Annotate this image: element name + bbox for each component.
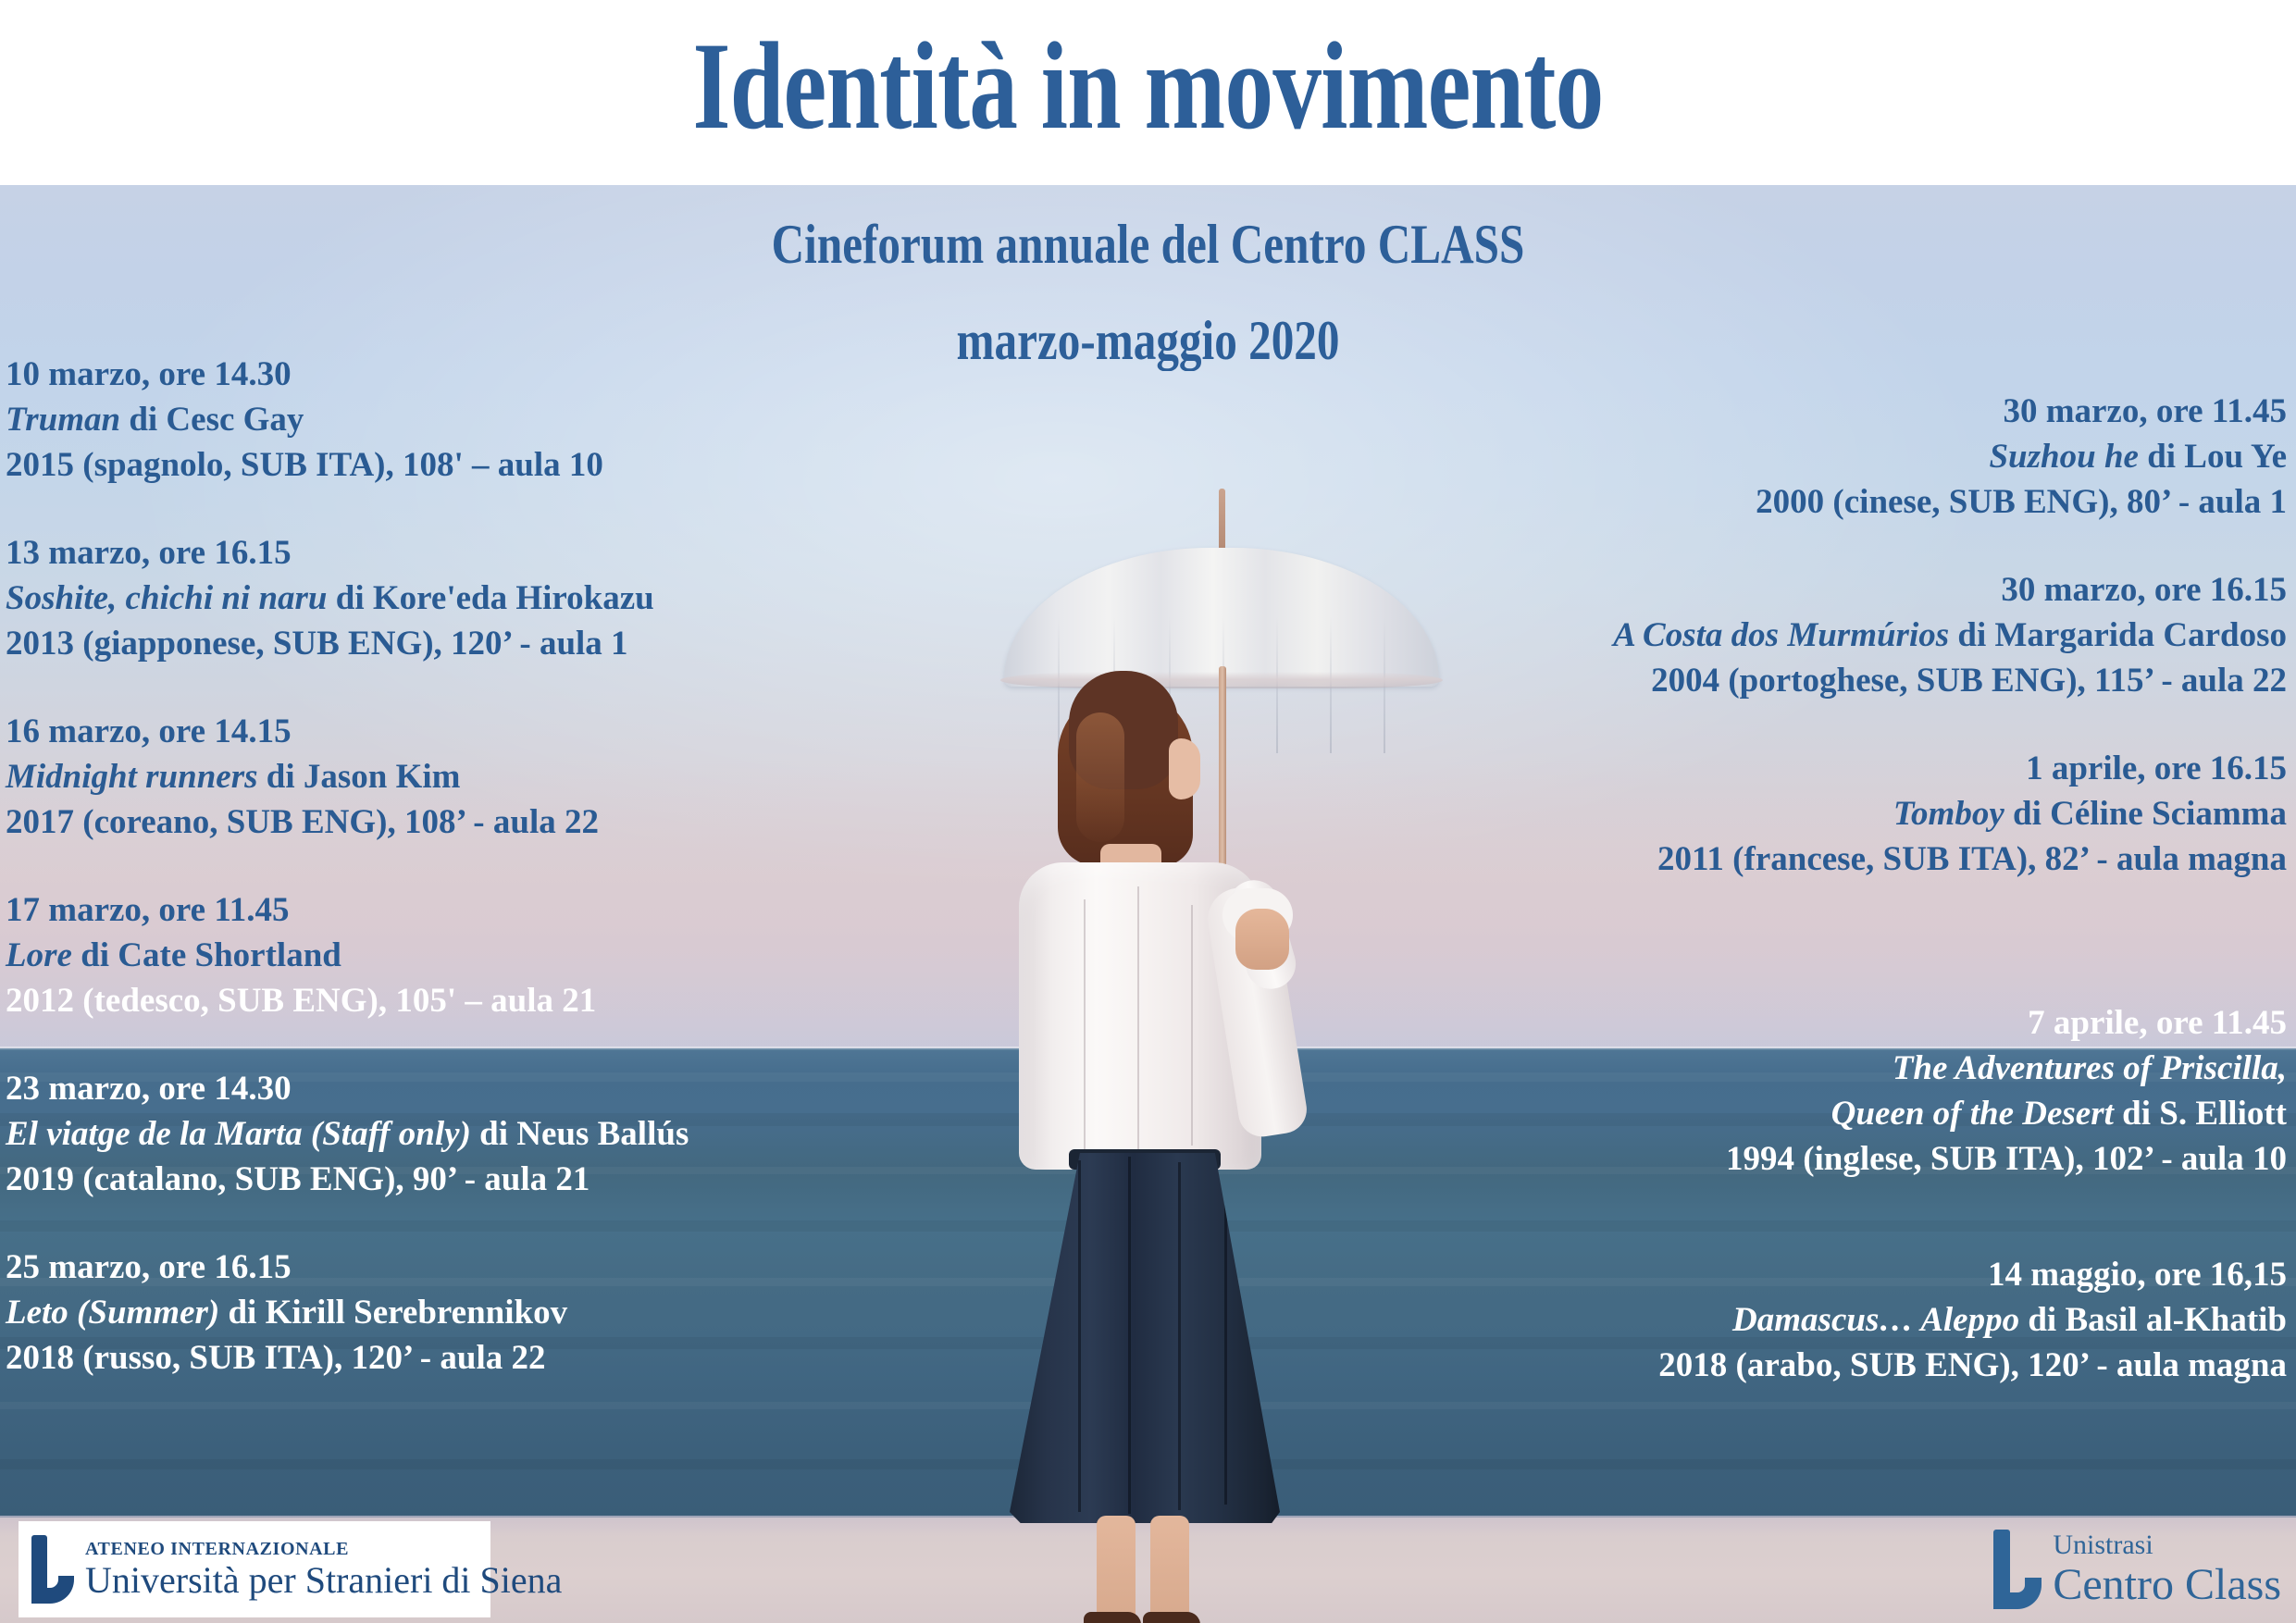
- film-director: di Cesc Gay: [120, 401, 304, 439]
- schedule-left-column: 10 marzo, ore 14.30 Truman di Cesc Gay 2…: [6, 352, 689, 1423]
- film-title: Midnight runners: [6, 758, 258, 796]
- logo-left-name: Università per Stranieri di Siena: [85, 1560, 562, 1601]
- screening-entry: 10 marzo, ore 14.30 Truman di Cesc Gay 2…: [6, 352, 689, 488]
- entry-details: 2018 (russo, SUB ITA), 120’ - aula 22: [6, 1335, 689, 1381]
- entry-film: Damascus… Aleppo di Basil al-Khatib: [1613, 1297, 2287, 1343]
- entry-details: 1994 (inglese, SUB ITA), 102’ - aula 10: [1613, 1136, 2287, 1182]
- film-title: Tomboy: [1893, 795, 2004, 833]
- film-title: Soshite, chichi ni naru: [6, 579, 328, 617]
- screening-entry: 1 aprile, ore 16.15 Tomboy di Céline Sci…: [1613, 746, 2287, 882]
- film-director: di Kirill Serebrennikov: [219, 1294, 567, 1332]
- entry-details: 2011 (francese, SUB ITA), 82’ - aula mag…: [1613, 836, 2287, 882]
- entry-film: Tomboy di Céline Sciamma: [1613, 791, 2287, 836]
- film-director: di Céline Sciamma: [2004, 795, 2287, 833]
- page-title: Identità in movimento: [253, 24, 2043, 149]
- navy-skirt: [1010, 1153, 1280, 1523]
- screening-entry: 13 marzo, ore 16.15 Soshite, chichi ni n…: [6, 530, 689, 666]
- right-leg: [1150, 1516, 1189, 1623]
- left-leg: [1097, 1516, 1136, 1623]
- logo-right-eyebrow: Unistrasi: [2053, 1530, 2281, 1561]
- entry-film-line-1: The Adventures of Priscilla,: [1613, 1046, 2287, 1091]
- film-director: di Neus Ballús: [471, 1115, 689, 1153]
- entry-film: Suzhou he di Lou Ye: [1613, 434, 2287, 479]
- film-director: di Margarida Cardoso: [1949, 616, 2287, 654]
- film-title-continued: Queen of the Desert: [1831, 1095, 2114, 1133]
- screening-entry: 14 maggio, ore 16,15 Damascus… Aleppo di…: [1613, 1252, 2287, 1388]
- entry-details: 2018 (arabo, SUB ENG), 120’ - aula magna: [1613, 1343, 2287, 1388]
- entry-date: 17 marzo, ore 11.45: [6, 887, 689, 933]
- film-director: di Kore'eda Hirokazu: [328, 579, 654, 617]
- film-title: A Costa dos Murmúrios: [1613, 616, 1949, 654]
- entry-details: 2013 (giapponese, SUB ENG), 120’ - aula …: [6, 621, 689, 666]
- subtitle-line-1: Cineforum annuale del Centro CLASS: [772, 214, 1525, 275]
- entry-film: Truman di Cesc Gay: [6, 397, 689, 442]
- umbrella-tip: [1219, 489, 1225, 551]
- film-title: Suzhou he: [1989, 438, 2138, 476]
- entry-details: 2004 (portoghese, SUB ENG), 115’ - aula …: [1613, 658, 2287, 703]
- entry-details: 2012 (tedesco, SUB ENG), 105' – aula 21: [6, 978, 689, 1023]
- unistrasi-hook-icon: [31, 1535, 74, 1604]
- film-title: El viatge de la Marta (Staff only): [6, 1115, 471, 1153]
- left-sandal: [1084, 1612, 1141, 1623]
- film-director: di Lou Ye: [2139, 438, 2287, 476]
- entry-film: Soshite, chichi ni naru di Kore'eda Hiro…: [6, 576, 689, 621]
- entry-film: A Costa dos Murmúrios di Margarida Cardo…: [1613, 613, 2287, 658]
- film-director: di S. Elliott: [2114, 1095, 2287, 1133]
- entry-film: Leto (Summer) di Kirill Serebrennikov: [6, 1290, 689, 1335]
- entry-date: 16 marzo, ore 14.15: [6, 709, 689, 754]
- entry-film: El viatge de la Marta (Staff only) di Ne…: [6, 1111, 689, 1157]
- film-director: di Cate Shortland: [72, 936, 341, 974]
- screening-entry: 30 marzo, ore 11.45 Suzhou he di Lou Ye …: [1613, 389, 2287, 525]
- entry-date: 14 maggio, ore 16,15: [1613, 1252, 2287, 1297]
- entry-film: Midnight runners di Jason Kim: [6, 754, 689, 799]
- right-sandal: [1143, 1612, 1200, 1623]
- film-title: Leto (Summer): [6, 1294, 219, 1332]
- screening-entry: 25 marzo, ore 16.15 Leto (Summer) di Kir…: [6, 1245, 689, 1381]
- schedule-right-column: 30 marzo, ore 11.45 Suzhou he di Lou Ye …: [1613, 389, 2287, 1431]
- logo-universita-per-stranieri-di-siena: ATENEO INTERNAZIONALE Università per Str…: [19, 1521, 490, 1617]
- logo-right-text: Unistrasi Centro Class: [2053, 1530, 2281, 1609]
- film-director: di Jason Kim: [258, 758, 461, 796]
- entry-date: 10 marzo, ore 14.30: [6, 352, 689, 397]
- face-profile: [1169, 738, 1200, 799]
- screening-entry: 17 marzo, ore 11.45 Lore di Cate Shortla…: [6, 887, 689, 1023]
- woman-with-umbrella: [1004, 481, 1522, 1582]
- hand: [1235, 909, 1289, 970]
- screening-entry: 23 marzo, ore 14.30 El viatge de la Mart…: [6, 1066, 689, 1202]
- logo-centro-class: Unistrasi Centro Class: [1980, 1518, 2281, 1621]
- screening-entry: 7 aprile, ore 11.45 The Adventures of Pr…: [1613, 1000, 2287, 1182]
- entry-film-line-2: Queen of the Desert di S. Elliott: [1613, 1091, 2287, 1136]
- entry-date: 25 marzo, ore 16.15: [6, 1245, 689, 1290]
- hair-highlight: [1076, 712, 1124, 842]
- centro-class-hook-icon: [1993, 1530, 2042, 1609]
- entry-details: 2000 (cinese, SUB ENG), 80’ - aula 1: [1613, 479, 2287, 525]
- screening-entry: 30 marzo, ore 16.15 A Costa dos Murmúrio…: [1613, 567, 2287, 703]
- logo-left-text: ATENEO INTERNAZIONALE Università per Str…: [85, 1538, 562, 1601]
- film-title: Truman: [6, 401, 120, 439]
- entry-date: 13 marzo, ore 16.15: [6, 530, 689, 576]
- entry-film: Lore di Cate Shortland: [6, 933, 689, 978]
- entry-date: 30 marzo, ore 16.15: [1613, 567, 2287, 613]
- screening-entry: 16 marzo, ore 14.15 Midnight runners di …: [6, 709, 689, 845]
- entry-details: 2019 (catalano, SUB ENG), 90’ - aula 21: [6, 1157, 689, 1202]
- header-band: Identità in movimento: [0, 0, 2296, 185]
- entry-date: 1 aprile, ore 16.15: [1613, 746, 2287, 791]
- entry-details: 2017 (coreano, SUB ENG), 108’ - aula 22: [6, 799, 689, 845]
- poster: Identità in movimento Cineforum annuale …: [0, 0, 2296, 1623]
- entry-date: 30 marzo, ore 11.45: [1613, 389, 2287, 434]
- entry-date: 7 aprile, ore 11.45: [1613, 1000, 2287, 1046]
- film-title: The Adventures of Priscilla,: [1893, 1049, 2287, 1087]
- logo-left-eyebrow: ATENEO INTERNAZIONALE: [85, 1538, 562, 1560]
- logo-right-name: Centro Class: [2053, 1561, 2281, 1609]
- entry-date: 23 marzo, ore 14.30: [6, 1066, 689, 1111]
- entry-details: 2015 (spagnolo, SUB ITA), 108' – aula 10: [6, 442, 689, 488]
- film-director: di Basil al-Khatib: [2019, 1301, 2287, 1339]
- film-title: Damascus… Aleppo: [1732, 1301, 2019, 1339]
- film-title: Lore: [6, 936, 72, 974]
